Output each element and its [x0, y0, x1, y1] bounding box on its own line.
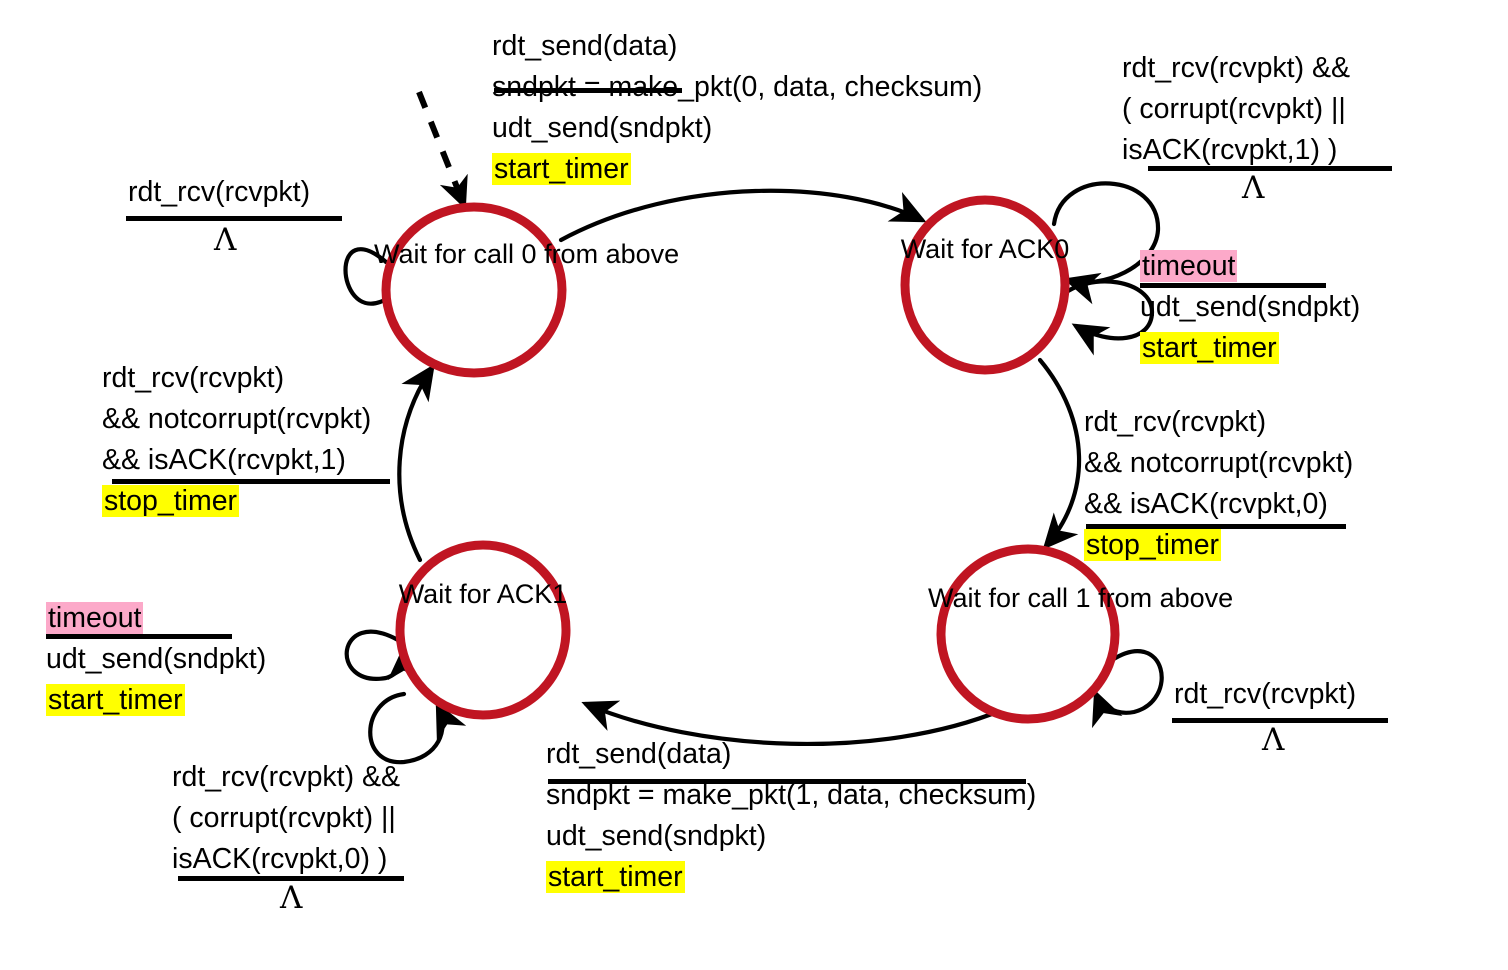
transition-label-bottom-left: rdt_rcv(rcvpkt) && ( corrupt(rcvpkt) || … — [172, 757, 400, 880]
fsm-diagram-canvas: Wait for call 0 from above Wait for ACK0… — [0, 0, 1508, 970]
transition-label-bottom-right: rdt_rcv(rcvpkt) — [1174, 674, 1356, 715]
event-text: rdt_rcv(rcvpkt) && — [172, 757, 400, 798]
action-text: udt_send(sndpkt) — [546, 816, 1036, 857]
event-text: && isACK(rcvpkt,0) — [1084, 484, 1353, 525]
action-text: udt_send(sndpkt) — [46, 639, 266, 680]
transition-label-top-center: rdt_send(data) sndpkt = make_pkt(0, data… — [492, 26, 982, 190]
divider-rule — [494, 88, 682, 93]
transition-label-bottom-center: rdt_send(data) sndpkt = make_pkt(1, data… — [546, 734, 1036, 898]
event-text: isACK(rcvpkt,0) ) — [172, 839, 400, 880]
event-text: && notcorrupt(rcvpkt) — [102, 399, 371, 440]
action-text: udt_send(sndpkt) — [492, 108, 982, 149]
event-text: rdt_rcv(rcvpkt) — [102, 358, 371, 399]
action-lambda: Λ — [1242, 170, 1264, 206]
state-wait-ack1[interactable] — [400, 545, 566, 715]
divider-rule — [548, 779, 1026, 784]
action-text: udt_send(sndpkt) — [1140, 287, 1360, 328]
divider-rule — [1148, 166, 1392, 171]
self-loop-ack0-timeout — [1060, 281, 1152, 338]
transition-label-left-middle: rdt_rcv(rcvpkt) && notcorrupt(rcvpkt) &&… — [102, 358, 371, 522]
start-arrow-dashed — [419, 92, 464, 205]
transition-label-left-timeout: timeout udt_send(sndpkt) start_timer — [46, 598, 266, 721]
edge-call0-to-ack0 — [561, 191, 922, 240]
event-text: ( corrupt(rcvpkt) || — [1122, 89, 1350, 130]
action-text-highlighted: start_timer — [46, 684, 185, 716]
event-text: rdt_rcv(rcvpkt) — [1084, 402, 1353, 443]
event-text: rdt_send(data) — [546, 734, 1036, 775]
action-lambda: Λ — [214, 222, 236, 258]
edge-ack0-to-call1 — [1040, 360, 1079, 546]
divider-rule — [46, 634, 232, 639]
transition-label-top-left: rdt_rcv(rcvpkt) — [128, 172, 310, 213]
event-text: && notcorrupt(rcvpkt) — [1084, 443, 1353, 484]
transition-label-right-middle: rdt_rcv(rcvpkt) && notcorrupt(rcvpkt) &&… — [1084, 402, 1353, 566]
action-text-highlighted: start_timer — [1140, 332, 1279, 364]
event-text: isACK(rcvpkt,1) ) — [1122, 130, 1350, 171]
state-wait-call0[interactable] — [386, 207, 562, 373]
event-text: rdt_rcv(rcvpkt) — [1174, 674, 1356, 715]
self-loop-ack1-timeout — [347, 632, 404, 679]
action-lambda: Λ — [280, 880, 302, 916]
action-text-highlighted: start_timer — [546, 861, 685, 893]
event-text-highlighted: timeout — [1140, 250, 1237, 282]
transition-label-right-timeout: timeout udt_send(sndpkt) start_timer — [1140, 246, 1360, 369]
divider-rule — [1086, 524, 1346, 529]
self-loop-ack1-corrupt — [370, 694, 442, 762]
event-text: rdt_rcv(rcvpkt) — [128, 172, 310, 213]
event-text: && isACK(rcvpkt,1) — [102, 440, 371, 481]
edge-ack1-to-call0 — [399, 368, 432, 560]
transition-label-top-right: rdt_rcv(rcvpkt) && ( corrupt(rcvpkt) || … — [1122, 48, 1350, 171]
action-text-highlighted: stop_timer — [1084, 529, 1221, 561]
event-text: rdt_send(data) — [492, 26, 982, 67]
action-text-highlighted: stop_timer — [102, 485, 239, 517]
divider-rule — [112, 479, 390, 484]
event-text: rdt_rcv(rcvpkt) && — [1122, 48, 1350, 89]
state-wait-ack0[interactable] — [905, 200, 1065, 370]
divider-rule — [126, 216, 342, 221]
action-lambda: Λ — [1262, 722, 1284, 758]
action-text-highlighted: start_timer — [492, 153, 631, 185]
event-text: ( corrupt(rcvpkt) || — [172, 798, 400, 839]
divider-rule — [1140, 283, 1326, 288]
event-text-highlighted: timeout — [46, 602, 143, 634]
state-wait-call1[interactable] — [941, 549, 1115, 719]
